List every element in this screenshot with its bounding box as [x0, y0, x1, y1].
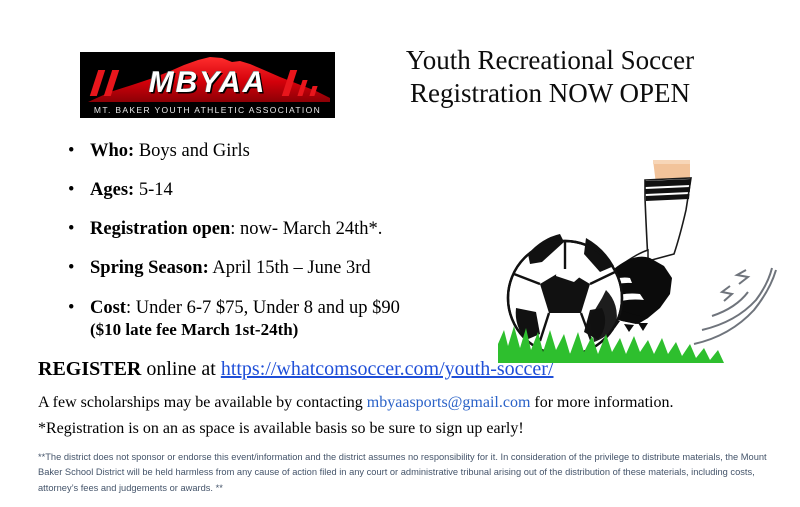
register-middle-text: online at: [141, 358, 220, 380]
page-title: Youth Recreational Soccer Registration N…: [385, 44, 715, 110]
bullet-icon: •: [68, 218, 74, 241]
bullet-icon: •: [68, 297, 74, 320]
district-disclaimer: **The district does not sponsor or endor…: [38, 450, 773, 496]
list-item-label: Registration open: [90, 219, 230, 239]
bullet-icon: •: [68, 140, 74, 163]
list-item: • Who: Boys and Girls: [60, 140, 490, 163]
list-item-value: Boys and Girls: [134, 141, 250, 161]
register-keyword: REGISTER: [38, 358, 141, 380]
leg-highlight: [653, 160, 690, 164]
motion-lines: [694, 268, 776, 344]
list-item: • Spring Season: April 15th – June 3rd: [60, 257, 490, 280]
logo-tagline: MT. BAKER YOUTH ATHLETIC ASSOCIATION: [80, 105, 335, 115]
bullet-icon: •: [68, 179, 74, 202]
bullet-icon: •: [68, 257, 74, 280]
list-item: • Registration open: now- March 24th*.: [60, 218, 490, 241]
register-line: REGISTER online at https://whatcomsoccer…: [38, 358, 554, 381]
list-item-value: : now- March 24th*.: [230, 219, 382, 239]
list-item-label: Ages:: [90, 180, 134, 200]
cleat-stud-icon: [624, 324, 634, 332]
contact-email-link[interactable]: mbyaasports@gmail.com: [367, 394, 531, 411]
list-item-value: April 15th – June 3rd: [209, 258, 371, 278]
list-item-label: Spring Season:: [90, 258, 209, 278]
list-item-value: 5-14: [134, 180, 173, 200]
scholarship-text-after: for more information.: [530, 394, 673, 411]
space-available-note: *Registration is on an as space is avail…: [38, 420, 524, 438]
list-item-label: Who:: [90, 141, 134, 161]
list-item: • Cost: Under 6-7 $75, Under 8 and up $9…: [60, 297, 490, 320]
logo-wordmark: MBYAA: [80, 68, 335, 98]
scholarship-line: A few scholarships may be available by c…: [38, 394, 673, 412]
scholarship-text-before: A few scholarships may be available by c…: [38, 394, 367, 411]
late-fee-note: ($10 late fee March 1st-24th): [90, 320, 298, 340]
title-line-1: Youth Recreational Soccer: [385, 44, 715, 77]
mbyaa-logo: MBYAA MT. BAKER YOUTH ATHLETIC ASSOCIATI…: [80, 52, 335, 118]
details-list: • Who: Boys and Girls • Ages: 5-14 • Reg…: [60, 140, 490, 336]
title-line-2: Registration NOW OPEN: [385, 77, 715, 110]
cleat-stud-icon: [638, 323, 648, 331]
list-item-label: Cost: [90, 298, 126, 318]
list-item-value: : Under 6-7 $75, Under 8 and up $90: [126, 298, 400, 318]
list-item: • Ages: 5-14: [60, 179, 490, 202]
soccer-kick-illustration: [498, 158, 800, 363]
